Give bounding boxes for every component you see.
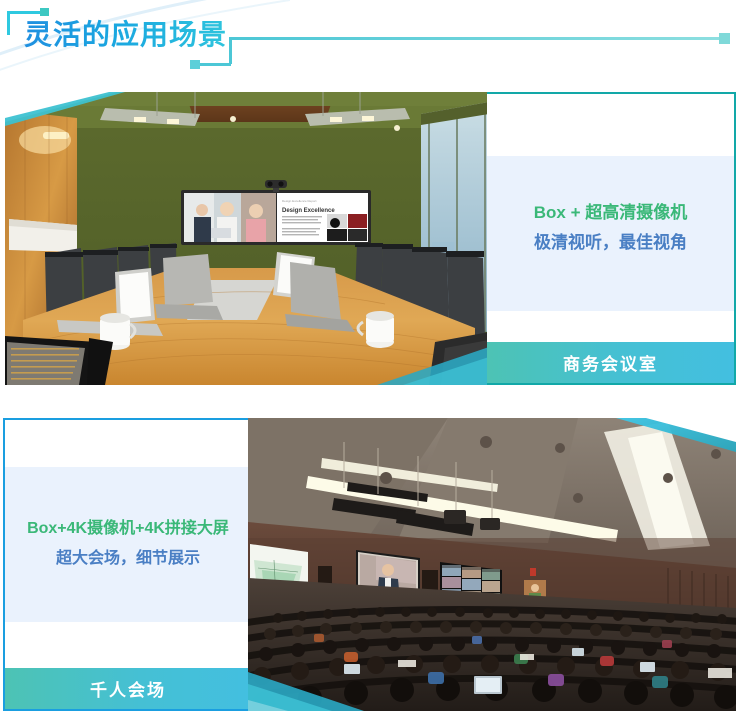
section-header: 灵活的应用场景 <box>0 0 736 88</box>
scenario-card-business-meeting-room[interactable]: Design Excellence Report Design Excellen… <box>0 92 736 390</box>
header-rule-end-square <box>719 33 730 44</box>
card2-footer-label[interactable]: 千人会场 <box>5 668 251 709</box>
scenario-card-thousand-person-venue[interactable]: Box+4K摄像机+4K拼接大屏 超大会场，细节展示 千人会场 <box>0 418 736 717</box>
header-rule-right <box>229 37 724 40</box>
thousand-person-venue-photo <box>248 418 736 711</box>
card1-caption-line2: 极清视听，最佳视角 <box>487 228 734 258</box>
card1-caption: Box + 超高清摄像机 极清视听，最佳视角 <box>487 198 734 258</box>
header-bracket-left-vertical <box>7 11 10 35</box>
svg-text:Design Excellence Report: Design Excellence Report <box>282 199 317 203</box>
thousand-person-venue-info-panel: Box+4K摄像机+4K拼接大屏 超大会场，细节展示 千人会场 <box>3 418 251 711</box>
card2-caption-line2: 超大会场，细节展示 <box>5 544 251 574</box>
svg-text:Design Excellence: Design Excellence <box>282 208 335 214</box>
card2-caption-line1: Box+4K摄像机+4K拼接大屏 <box>5 514 251 544</box>
business-meeting-room-info-panel: Box + 超高清摄像机 极清视听，最佳视角 商务会议室 <box>487 92 736 385</box>
card1-footer-label[interactable]: 商务会议室 <box>487 342 734 383</box>
card2-caption: Box+4K摄像机+4K拼接大屏 超大会场，细节展示 <box>5 514 251 574</box>
business-meeting-room-photo: Design Excellence Report Design Excellen… <box>5 92 489 385</box>
header-bracket-right-foot <box>198 63 231 66</box>
header-bracket-right-square <box>190 60 200 69</box>
header-bracket-right-vertical <box>229 37 232 64</box>
card1-caption-line1: Box + 超高清摄像机 <box>487 198 734 228</box>
page-title: 灵活的应用场景 <box>24 13 227 53</box>
